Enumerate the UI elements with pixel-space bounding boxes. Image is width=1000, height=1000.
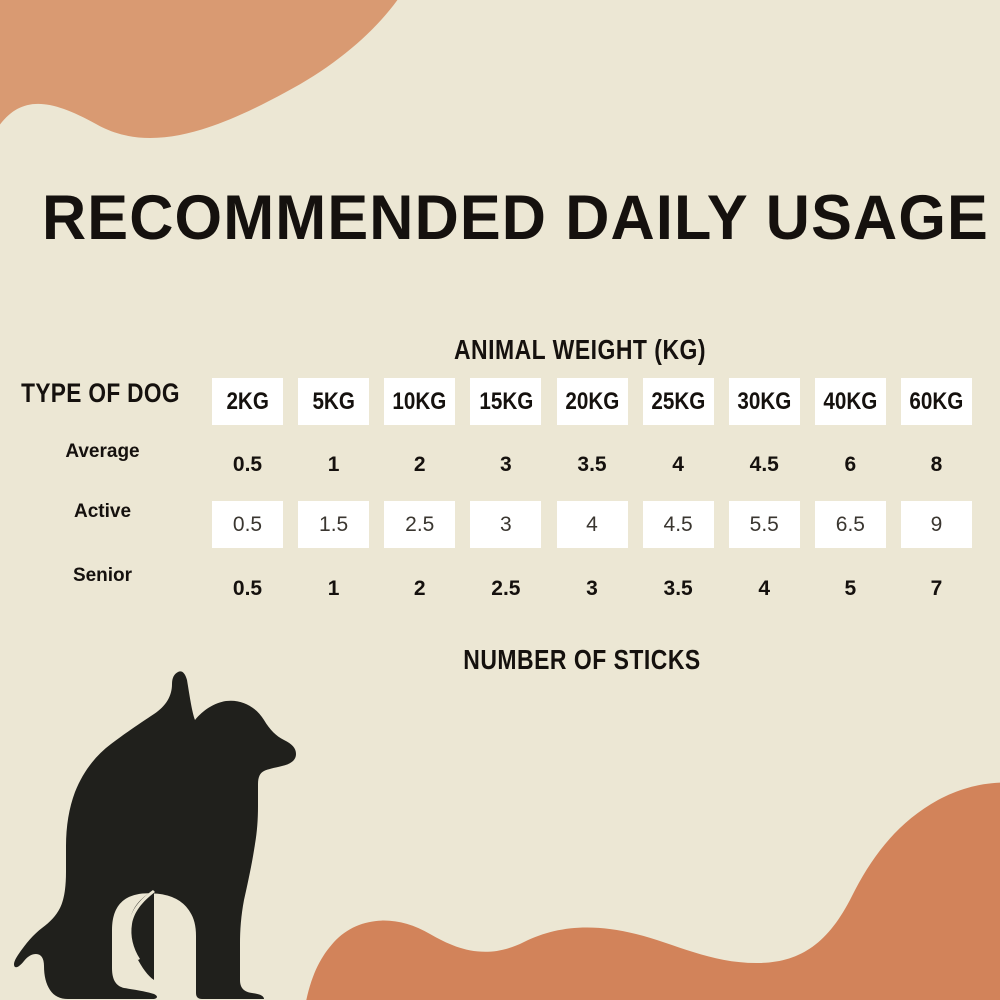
animal-weight-caption: ANIMAL WEIGHT (KG) [170, 334, 990, 366]
table-cell-value: 0.5 [233, 513, 262, 537]
row-label-active: Active [0, 501, 205, 523]
table-cell-value: 5.5 [750, 513, 779, 537]
table-cell-value: 4 [672, 453, 684, 477]
row-values-active: 0.51.52.5344.55.56.59 [212, 501, 972, 548]
row-label-average: Average [0, 441, 205, 463]
table-cell: 0.5 [212, 441, 283, 488]
table-cell: 3.5 [643, 565, 714, 612]
table-cell-value: 4.5 [664, 513, 693, 537]
table-cell-value: 3 [500, 453, 512, 477]
row-label-senior: Senior [0, 565, 205, 587]
weight-header-label: 10KG [393, 388, 447, 416]
weight-header-label: 25KG [651, 388, 705, 416]
weight-header-cell: 40KG [815, 378, 886, 425]
weight-header-label: 60KG [910, 388, 964, 416]
table-cell-value: 0.5 [233, 577, 262, 601]
table-cell: 3 [557, 565, 628, 612]
table-cell: 0.5 [212, 501, 283, 548]
weight-header-cell: 20KG [557, 378, 628, 425]
usage-table: TYPE OF DOG 2KG5KG10KG15KG20KG25KG30KG40… [0, 378, 1000, 625]
weight-header-label: 20KG [565, 388, 619, 416]
weight-header-label: 30KG [737, 388, 791, 416]
table-cell: 1.5 [298, 501, 369, 548]
table-cell: 5 [815, 565, 886, 612]
weight-header-label: 5KG [312, 388, 354, 416]
table-cell: 1 [298, 441, 369, 488]
weight-header-cell: 10KG [384, 378, 455, 425]
table-cell: 3 [470, 501, 541, 548]
weight-header-cell: 60KG [901, 378, 972, 425]
table-cell-value: 1 [328, 577, 340, 601]
table-cell: 3.5 [557, 441, 628, 488]
table-cell-value: 2.5 [405, 513, 434, 537]
table-cell: 4.5 [729, 441, 800, 488]
weight-header-label: 2KG [226, 388, 268, 416]
table-cell: 2.5 [470, 565, 541, 612]
row-values-senior: 0.5122.533.5457 [212, 565, 972, 612]
page-title: RECOMMENDED DAILY USAGE [42, 182, 989, 254]
table-cell: 6.5 [815, 501, 886, 548]
table-header-row: TYPE OF DOG 2KG5KG10KG15KG20KG25KG30KG40… [0, 378, 1000, 441]
table-cell-value: 9 [931, 513, 943, 537]
table-cell-value: 0.5 [233, 453, 262, 477]
table-cell-value: 3.5 [664, 577, 693, 601]
table-cell-value: 4 [758, 577, 770, 601]
table-cell: 6 [815, 441, 886, 488]
weight-header-label: 15KG [479, 388, 533, 416]
table-cell: 4 [557, 501, 628, 548]
table-cell: 4.5 [643, 501, 714, 548]
weight-header-label: 40KG [823, 388, 877, 416]
table-cell-value: 4 [586, 513, 598, 537]
table-row: Active 0.51.52.5344.55.56.59 [0, 501, 1000, 565]
table-row: Average 0.51233.544.568 [0, 441, 1000, 501]
table-cell-value: 1.5 [319, 513, 348, 537]
table-cell: 4 [729, 565, 800, 612]
weight-header-cell: 5KG [298, 378, 369, 425]
table-cell: 5.5 [729, 501, 800, 548]
table-cell-value: 2.5 [491, 577, 520, 601]
table-cell: 0.5 [212, 565, 283, 612]
row-values-average: 0.51233.544.568 [212, 441, 972, 488]
table-cell: 3 [470, 441, 541, 488]
table-cell-value: 7 [931, 577, 943, 601]
table-cell-value: 4.5 [750, 453, 779, 477]
weight-header-cells: 2KG5KG10KG15KG20KG25KG30KG40KG60KG [212, 378, 972, 425]
weight-header-cell: 15KG [470, 378, 541, 425]
table-cell: 2.5 [384, 501, 455, 548]
table-cell-value: 3 [500, 513, 512, 537]
table-cell: 2 [384, 441, 455, 488]
table-cell: 9 [901, 501, 972, 548]
table-cell: 7 [901, 565, 972, 612]
table-cell: 1 [298, 565, 369, 612]
dog-silhouette-icon [14, 668, 314, 1000]
weight-header-cell: 30KG [729, 378, 800, 425]
table-row: Senior 0.5122.533.5457 [0, 565, 1000, 625]
table-cell-value: 1 [328, 453, 340, 477]
poster-canvas: RECOMMENDED DAILY USAGE ANIMAL WEIGHT (K… [0, 0, 1000, 1000]
table-cell-value: 3 [586, 577, 598, 601]
table-cell: 8 [901, 441, 972, 488]
table-cell-value: 2 [414, 453, 426, 477]
table-cell-value: 6.5 [836, 513, 865, 537]
table-cell: 2 [384, 565, 455, 612]
row-header-label: TYPE OF DOG [14, 378, 186, 409]
table-cell: 4 [643, 441, 714, 488]
table-cell-value: 6 [845, 453, 857, 477]
table-cell-value: 5 [845, 577, 857, 601]
weight-header-cell: 25KG [643, 378, 714, 425]
table-cell-value: 8 [931, 453, 943, 477]
table-cell-value: 2 [414, 577, 426, 601]
weight-header-cell: 2KG [212, 378, 283, 425]
table-cell-value: 3.5 [577, 453, 606, 477]
